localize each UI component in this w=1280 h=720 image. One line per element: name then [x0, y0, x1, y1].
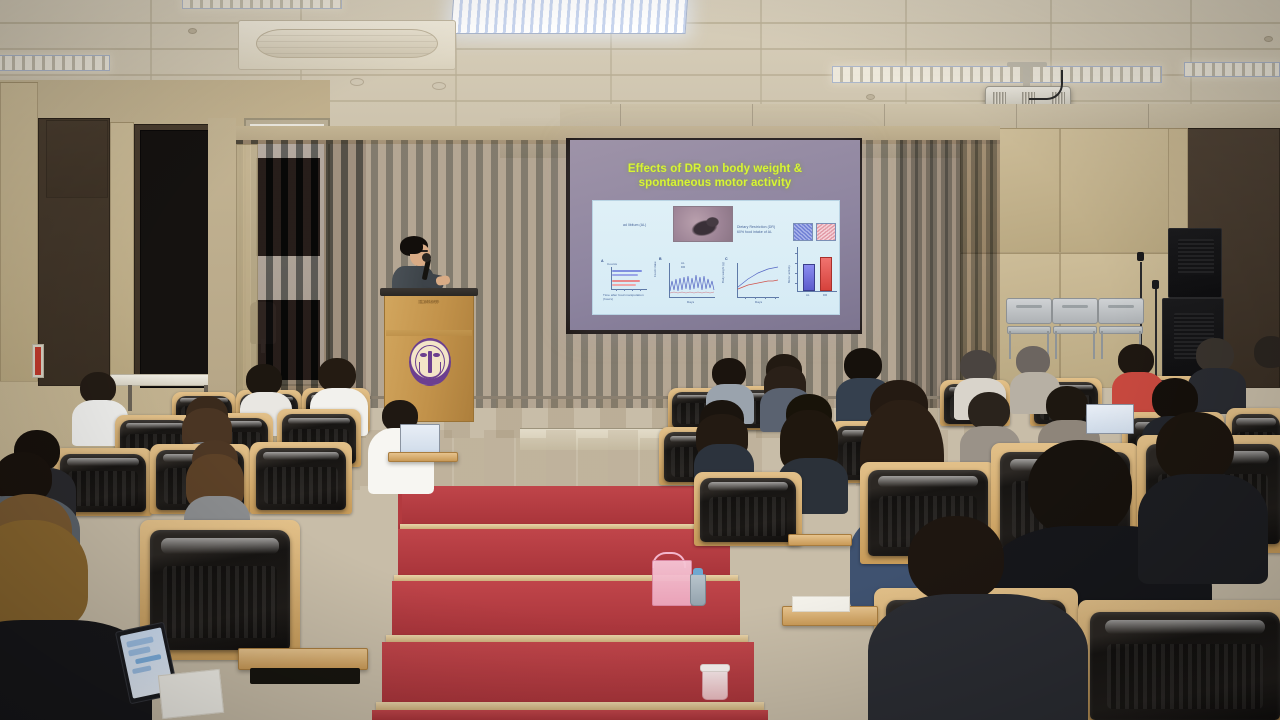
laptop-screen[interactable] [1086, 404, 1134, 434]
slide-panel-c-ylabel: Body weight (g) [721, 262, 725, 283]
doorway-dark [140, 130, 210, 388]
bar-label-al: AL [806, 293, 810, 297]
sprinkler-head-icon [188, 28, 197, 34]
ceiling-light-panel [182, 0, 342, 9]
aisle-step [382, 642, 754, 704]
lecture-seat[interactable] [150, 530, 290, 650]
cup-lid-icon [700, 664, 730, 672]
slide-title-line-1: Effects of DR on body weight & [570, 162, 860, 176]
pa-speaker-stack [1168, 228, 1222, 298]
slide-label-ad-libitum: ad libitum (AL) [623, 223, 646, 227]
paper-coffee-cup[interactable] [702, 668, 728, 700]
slide-panel-b: B AL DR Days Food intake [659, 257, 719, 309]
lecture-seat[interactable] [1090, 612, 1280, 720]
slide-panel-a-xlabel: Time after food manipulation (hours) [603, 293, 649, 302]
micrograph-dr [816, 223, 836, 241]
slide-panel-c-lines [725, 257, 783, 309]
slide-panel-b-ylabel: Food intake [653, 261, 657, 277]
folding-chair[interactable] [1052, 298, 1098, 360]
micrograph-al [793, 223, 813, 241]
university-emblem [409, 338, 451, 386]
ceiling-light-panel [0, 55, 110, 71]
air-conditioning-diffuser [238, 20, 456, 70]
handout-paper[interactable] [792, 596, 850, 612]
bar-label-dr: DR [823, 293, 827, 297]
projection-screen: Effects of DR on body weight & spontaneo… [570, 140, 860, 330]
smoke-detector-icon [350, 78, 364, 86]
slide-label-dr-line2: 60% food intake of AL [737, 230, 772, 234]
ceiling-light-panel [451, 0, 689, 34]
bar-dr [820, 257, 832, 291]
aisle-step [402, 486, 722, 526]
ceiling-light-panel [832, 66, 1162, 83]
smoke-detector-icon [432, 82, 446, 90]
lecture-hall-scene: Effects of DR on body weight & spontaneo… [0, 0, 1280, 720]
slide-panel-d: AL DR Motor activity [789, 223, 839, 309]
ceiling-light-panel [1184, 62, 1280, 77]
bar-al [803, 264, 815, 291]
water-bottle[interactable] [690, 574, 706, 606]
fold-out-desk[interactable] [238, 648, 368, 670]
mouse-photograph [673, 206, 733, 242]
side-table [110, 374, 218, 386]
lecture-seat[interactable] [256, 448, 346, 510]
slide-panel-a: A Counts Time after food manipulation (h… [601, 259, 653, 307]
notepad[interactable] [158, 669, 224, 719]
sprinkler-head-icon [866, 94, 875, 100]
podium-top-surface [380, 288, 478, 296]
podium-text-line2: 生命科學院 [384, 300, 474, 304]
bottle-cap-icon [693, 568, 703, 575]
slide-content-area: ad libitum (AL) Dietary Restriction (DR)… [592, 200, 840, 315]
slide-label-dr-line1: Dietary Restriction (DR) [737, 225, 775, 229]
fold-out-desk[interactable] [788, 534, 852, 546]
slide-panel-c-xlabel: Days [755, 300, 762, 304]
aisle-step [372, 710, 768, 720]
sprinkler-head-icon [1264, 36, 1273, 42]
slide-panel-b-xlabel: Days [687, 300, 694, 304]
slide-title-line-2: spontaneous motor activity [570, 176, 860, 190]
pink-tote-bag[interactable] [652, 560, 692, 606]
slide-panel-d-ylabel: Motor activity [787, 265, 791, 283]
wall-panel-dark [46, 120, 108, 198]
lecture-seat[interactable] [700, 478, 796, 542]
slide-panel-c: C Days Body weight (g) [725, 257, 783, 309]
fire-equipment-sign [32, 344, 44, 378]
microphone-head-icon [422, 253, 431, 262]
fold-out-desk[interactable] [388, 452, 458, 462]
proscenium-frame [208, 118, 236, 418]
